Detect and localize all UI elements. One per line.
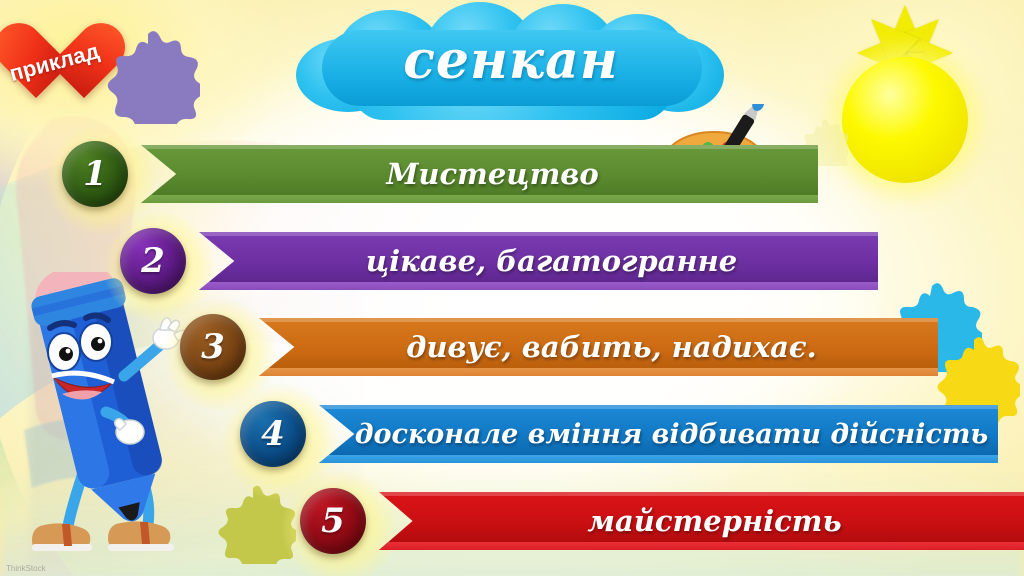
example-badge: приклад [4,16,132,112]
bar-highlight-5 [379,492,1024,496]
bar-bottom-strip-3 [259,368,938,376]
sencan-row-2[interactable]: цікаве, багатогранне 2 [120,232,810,290]
bar-highlight-3 [259,318,938,322]
row-text-4: досконале вміння відбивати дійсність [329,419,989,450]
bar-bottom-strip-1 [141,195,818,203]
row-number-3: 3 [201,327,225,367]
row-badge-5[interactable]: 5 [300,488,366,554]
row-number-4: 4 [261,414,285,454]
row-bar-4[interactable]: досконале вміння відбивати дійсність [319,405,998,463]
row-badge-2[interactable]: 2 [120,228,186,294]
bar-bottom-strip-5 [379,542,1024,550]
row-number-5: 5 [321,501,345,541]
row-text-3: дивує, вабить, надихає. [380,330,816,364]
row-badge-4[interactable]: 4 [240,401,306,467]
page-title: сенкан [296,30,726,91]
sencan-row-4[interactable]: досконале вміння відбивати дійсність 4 [240,405,930,463]
row-text-1: Мистецтво [360,157,598,191]
bar-highlight-2 [199,232,878,236]
row-number-1: 1 [83,154,107,194]
sencan-row-5[interactable]: майстерність 5 [300,492,990,550]
bar-bottom-strip-2 [199,282,878,290]
bar-highlight-1 [141,145,818,149]
bar-highlight-4 [319,405,998,409]
row-number-2: 2 [141,241,165,281]
row-bar-1[interactable]: Мистецтво [141,145,818,203]
row-badge-1[interactable]: 1 [62,141,128,207]
row-bar-5[interactable]: майстерність [379,492,1024,550]
row-text-5: майстерність [561,504,841,538]
row-badge-3[interactable]: 3 [180,314,246,380]
row-bar-3[interactable]: дивує, вабить, надихає. [259,318,938,376]
sencan-row-3[interactable]: дивує, вабить, надихає. 3 [180,318,870,376]
slide-canvas: сенкан приклад [0,0,1024,576]
row-text-2: цікаве, багатогранне [340,244,737,278]
sencan-row-1[interactable]: Мистецтво 1 [62,145,762,203]
row-bar-2[interactable]: цікаве, багатогранне [199,232,878,290]
bar-bottom-strip-4 [319,455,998,463]
watermark-text: ThinkStock [6,564,46,573]
